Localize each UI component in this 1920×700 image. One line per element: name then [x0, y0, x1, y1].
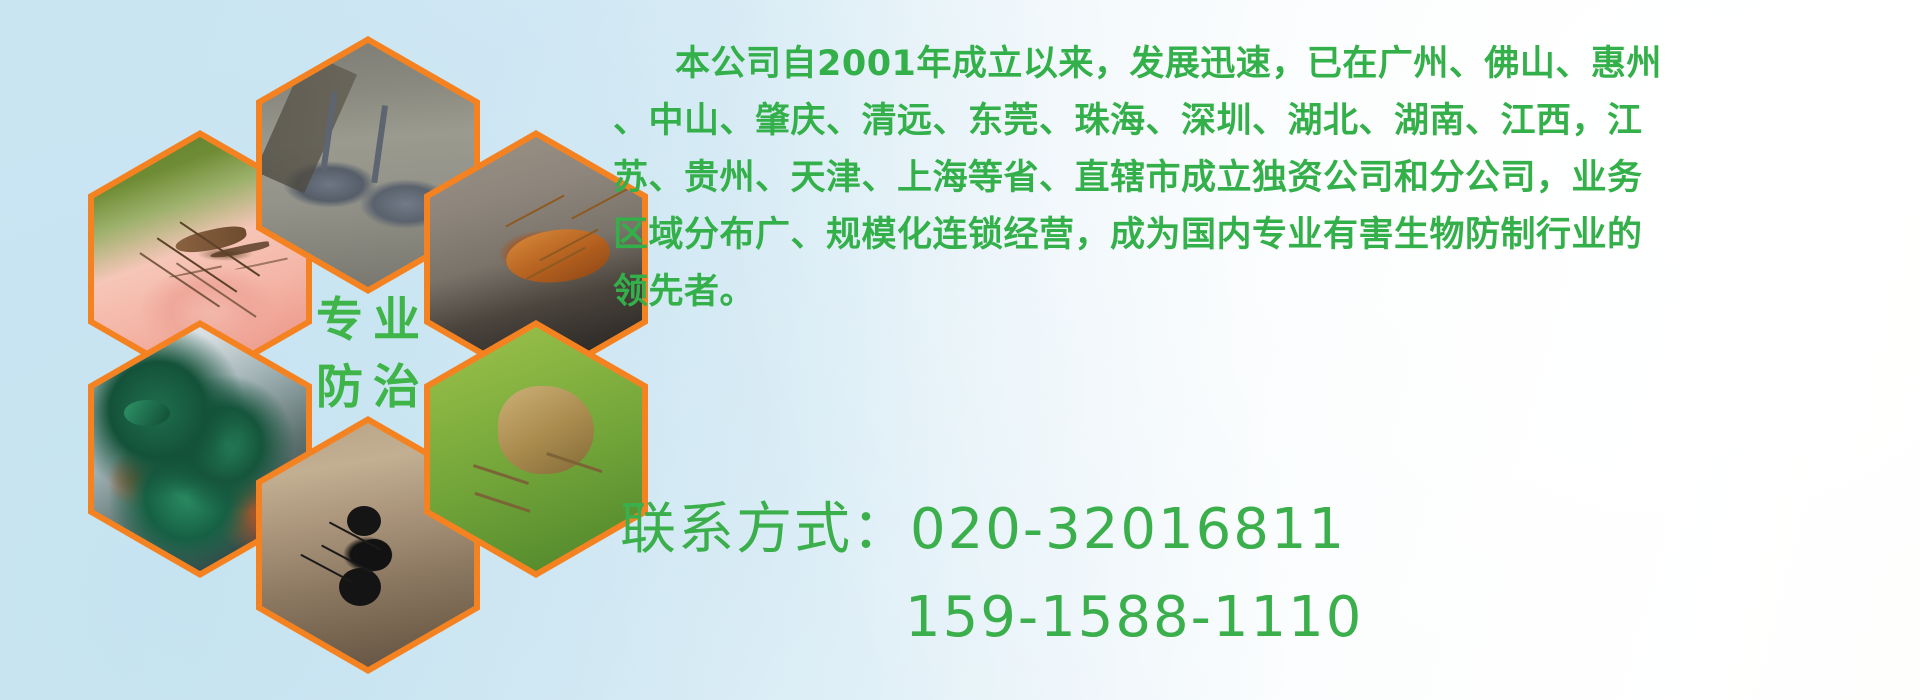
description-line-4: 区域分布广、规模化连锁经营，成为国内专业有害生物防制行业的	[613, 207, 1913, 264]
promo-banner: 专业 防治 本公司自2001年成立以来，发展迅速，已在广州、佛山、惠州 、中山、…	[0, 0, 1920, 700]
hexagon-photo-cluster: 专业 防治	[88, 8, 588, 568]
description-line-1: 本公司自2001年成立以来，发展迅速，已在广州、佛山、惠州	[613, 36, 1913, 93]
hex-center-label-line-1: 专业	[306, 288, 430, 355]
description-line-3: 苏、贵州、天津、上海等省、直辖市成立独资公司和分公司，业务	[613, 150, 1913, 207]
company-description: 本公司自2001年成立以来，发展迅速，已在广州、佛山、惠州 、中山、肇庆、清远、…	[613, 36, 1913, 321]
contact-line-secondary[interactable]: 159-1588-1110	[620, 574, 1920, 662]
hex-center-label-line-2: 防治	[306, 355, 430, 422]
contact-line-primary[interactable]: 联系方式：020-32016811	[620, 486, 1920, 574]
description-line-2: 、中山、肇庆、清远、东莞、珠海、深圳、湖北、湖南、江西，江	[613, 93, 1913, 150]
description-line-5: 领先者。	[613, 264, 1913, 321]
contact-info: 联系方式：020-32016811 159-1588-1110	[620, 486, 1920, 662]
